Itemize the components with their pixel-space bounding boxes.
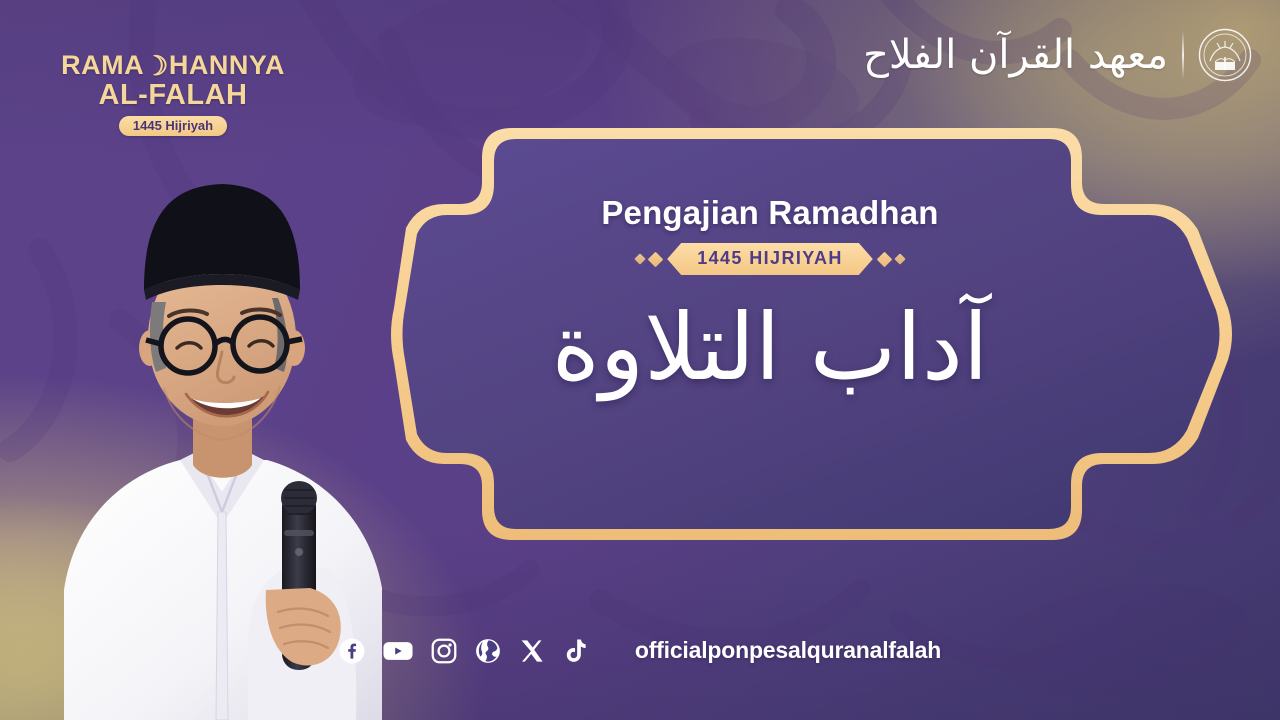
arabic-lesson-title: آداب التلاوة <box>552 281 989 414</box>
logo-line1-after: HANNYA <box>169 50 285 80</box>
frame-content: Pengajian Ramadhan 1445 HIJRIYAH آداب ال… <box>470 132 1070 532</box>
institute-arabic-name: معهد القرآن الفلاح <box>863 35 1168 75</box>
institute-seal-icon <box>1198 28 1252 82</box>
globe-icon[interactable] <box>475 638 501 664</box>
crescent-moon-icon: ☽ <box>144 53 169 80</box>
social-bar: officialponpesalquranalfalah <box>0 637 1280 664</box>
institute-logo: معهد القرآن الفلاح <box>863 28 1252 82</box>
social-handle: officialponpesalquranalfalah <box>635 637 941 664</box>
social-icon-list <box>339 638 587 664</box>
speaker-photo <box>52 120 392 720</box>
year-ribbon: 1445 HIJRIYAH <box>667 243 873 275</box>
event-title: Pengajian Ramadhan <box>601 194 938 232</box>
poster-canvas: RAMA☽HANNYA AL-FALAH 1445 Hijriyah معهد … <box>0 0 1280 720</box>
x-twitter-icon[interactable] <box>519 638 545 664</box>
instagram-icon[interactable] <box>431 638 457 664</box>
tiktok-icon[interactable] <box>563 638 587 664</box>
diamond-ornament-left-inner <box>648 251 664 267</box>
logo-divider <box>1182 31 1184 79</box>
logo-line2: AL-FALAH <box>48 81 298 110</box>
youtube-icon[interactable] <box>383 638 413 664</box>
logo-line1-before: RAMA <box>61 50 144 80</box>
year-ribbon-row: 1445 HIJRIYAH <box>636 243 904 275</box>
diamond-ornament-right-outer <box>894 253 905 264</box>
facebook-icon[interactable] <box>339 638 365 664</box>
diamond-ornament-left-outer <box>635 253 646 264</box>
diamond-ornament-right-inner <box>877 251 893 267</box>
